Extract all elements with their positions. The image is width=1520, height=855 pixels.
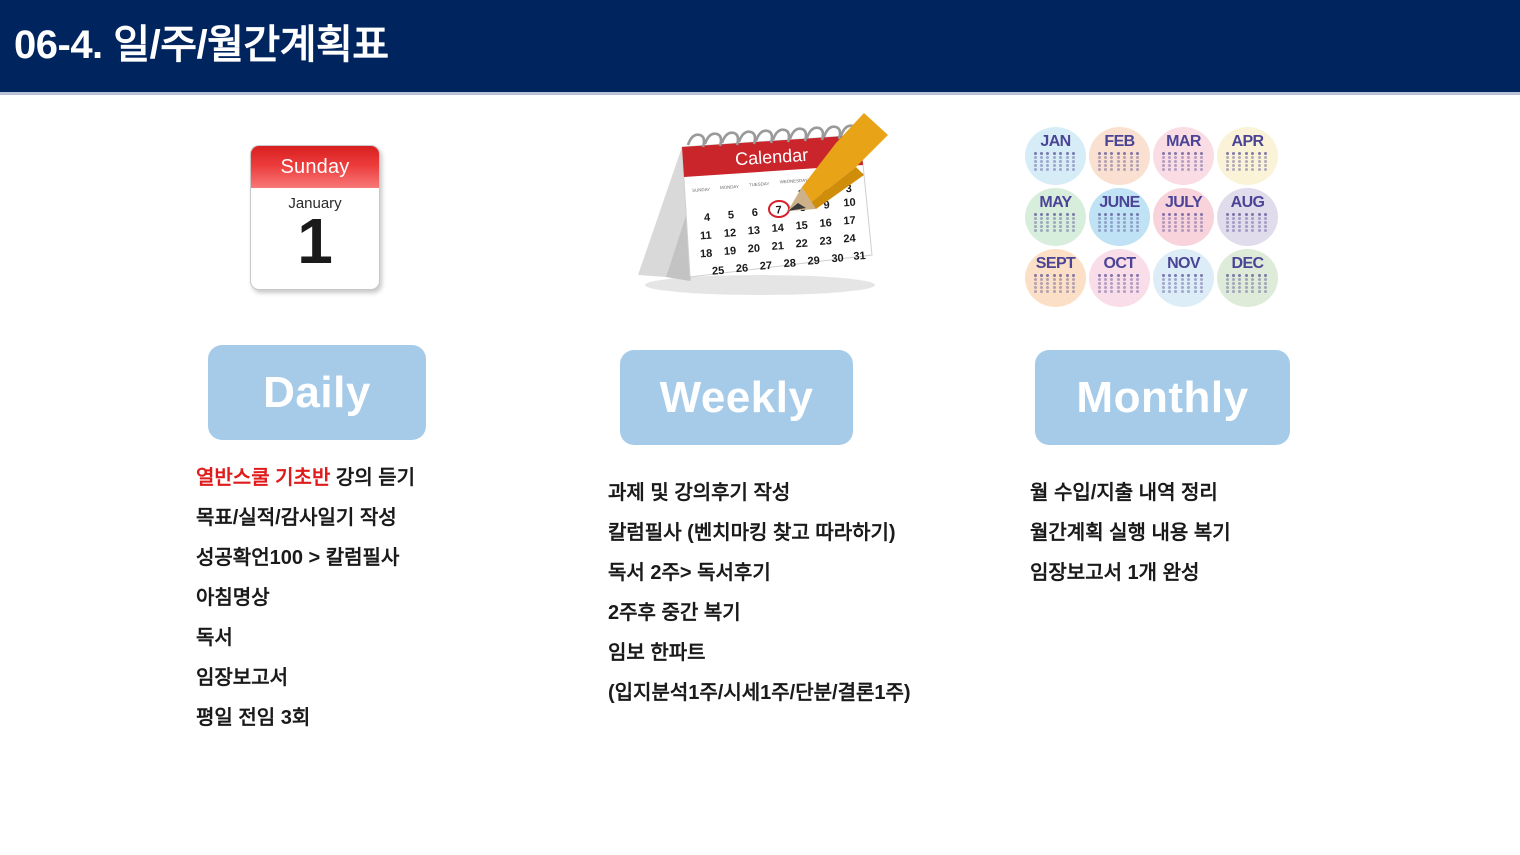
daily-icon-area: Sunday January 1: [140, 95, 560, 315]
svg-text:19: 19: [724, 245, 737, 258]
svg-text:12: 12: [724, 227, 737, 240]
list-item: 독서: [196, 618, 415, 658]
mini-calendar-grid: [1034, 274, 1078, 293]
desk-calendar-svg: Calendar: [620, 105, 920, 305]
pill-weekly[interactable]: Weekly: [620, 350, 853, 445]
svg-text:28: 28: [783, 257, 796, 270]
pill-monthly[interactable]: Monthly: [1035, 350, 1290, 445]
svg-text:14: 14: [771, 222, 785, 235]
month-chip: SEPT: [1025, 249, 1086, 307]
month-circles-icon: JANFEBMARAPRMAYJUNEJULYAUGSEPTOCTNOVDEC: [1025, 127, 1275, 307]
day-calendar-day: 1: [251, 210, 379, 272]
pill-monthly-label: Monthly: [1076, 373, 1248, 423]
mini-calendar-grid: [1098, 213, 1142, 232]
svg-text:13: 13: [747, 225, 760, 238]
svg-text:30: 30: [831, 252, 844, 265]
day-calendar-weekday: Sunday: [251, 146, 379, 188]
list-item: 임장보고서 1개 완성: [1030, 553, 1231, 593]
month-chip: JAN: [1025, 127, 1086, 185]
month-chip-label: OCT: [1104, 256, 1136, 272]
svg-text:22: 22: [795, 238, 808, 251]
svg-text:21: 21: [771, 240, 784, 253]
svg-text:15: 15: [795, 220, 808, 233]
month-chip: NOV: [1153, 249, 1214, 307]
list-item: 2주후 중간 복기: [608, 593, 911, 633]
task-list-weekly: 과제 및 강의후기 작성 칼럼필사 (벤치마킹 찾고 따라하기) 독서 2주> …: [608, 473, 911, 713]
svg-text:27: 27: [759, 260, 772, 273]
column-daily: Sunday January 1 Daily 열반스쿨 기초반 강의 듣기 목표…: [140, 95, 560, 855]
task-list-daily: 열반스쿨 기초반 강의 듣기 목표/실적/감사일기 작성 성공확언100 > 칼…: [196, 458, 415, 738]
pill-daily-label: Daily: [263, 368, 371, 418]
monthly-icon-area: JANFEBMARAPRMAYJUNEJULYAUGSEPTOCTNOVDEC: [980, 95, 1400, 315]
svg-text:29: 29: [807, 255, 820, 268]
month-chip: JULY: [1153, 188, 1214, 246]
svg-text:6: 6: [751, 207, 758, 219]
mini-calendar-grid: [1098, 274, 1142, 293]
list-item: 월 수입/지출 내역 정리: [1030, 473, 1231, 513]
mini-calendar-grid: [1034, 152, 1078, 171]
month-chip-label: JULY: [1165, 195, 1202, 211]
mini-calendar-grid: [1162, 213, 1206, 232]
columns-container: Sunday January 1 Daily 열반스쿨 기초반 강의 듣기 목표…: [0, 95, 1520, 855]
list-item: 임보 한파트: [608, 633, 911, 673]
day-calendar-icon: Sunday January 1: [250, 145, 380, 290]
svg-text:18: 18: [700, 248, 713, 261]
svg-text:24: 24: [843, 233, 857, 246]
month-chip: OCT: [1089, 249, 1150, 307]
mini-calendar-grid: [1226, 152, 1270, 171]
task-list-monthly: 월 수입/지출 내역 정리 월간계획 실행 내용 복기 임장보고서 1개 완성: [1030, 473, 1231, 593]
svg-text:25: 25: [712, 265, 725, 278]
month-chip-label: JUNE: [1099, 195, 1139, 211]
slide-root: 06-4. 일/주/월간계획표 Sunday January 1 Daily 열…: [0, 0, 1520, 855]
mini-calendar-grid: [1162, 274, 1206, 293]
mini-calendar-grid: [1162, 152, 1206, 171]
svg-text:31: 31: [853, 250, 866, 263]
month-chip-label: FEB: [1104, 134, 1134, 150]
weekly-icon-area: Calendar: [560, 95, 980, 315]
pill-daily[interactable]: Daily: [208, 345, 426, 440]
svg-text:16: 16: [819, 217, 832, 230]
mini-calendar-grid: [1226, 274, 1270, 293]
svg-text:7: 7: [775, 204, 782, 216]
mini-calendar-grid: [1034, 213, 1078, 232]
month-chip: AUG: [1217, 188, 1278, 246]
month-chip: APR: [1217, 127, 1278, 185]
svg-text:11: 11: [700, 230, 712, 243]
list-item: 열반스쿨 기초반 강의 듣기: [196, 458, 415, 498]
list-item: 과제 및 강의후기 작성: [608, 473, 911, 513]
column-weekly: Calendar: [560, 95, 980, 855]
desk-calendar-icon: Calendar: [620, 105, 920, 305]
month-chip: FEB: [1089, 127, 1150, 185]
svg-text:10: 10: [843, 197, 856, 210]
svg-text:23: 23: [819, 235, 832, 248]
list-item: 성공확언100 > 칼럼필사: [196, 538, 415, 578]
column-monthly: JANFEBMARAPRMAYJUNEJULYAUGSEPTOCTNOVDEC …: [980, 95, 1400, 855]
page-title: 06-4. 일/주/월간계획표: [14, 15, 389, 75]
svg-text:20: 20: [747, 243, 760, 256]
month-chip-label: SEPT: [1036, 256, 1075, 272]
svg-text:26: 26: [736, 262, 749, 275]
month-chip: DEC: [1217, 249, 1278, 307]
month-chip: MAY: [1025, 188, 1086, 246]
svg-text:5: 5: [728, 209, 735, 221]
list-item: 목표/실적/감사일기 작성: [196, 498, 415, 538]
task-text: 강의 듣기: [330, 467, 415, 489]
list-item: 아침명상: [196, 578, 415, 618]
task-highlight: 열반스쿨 기초반: [196, 467, 330, 489]
month-chip-label: JAN: [1040, 134, 1070, 150]
month-chip-label: MAR: [1166, 134, 1201, 150]
pill-weekly-label: Weekly: [660, 373, 814, 423]
month-chip-label: AUG: [1231, 195, 1265, 211]
month-chip-label: APR: [1232, 134, 1264, 150]
month-chip: JUNE: [1089, 188, 1150, 246]
month-chip-label: NOV: [1167, 256, 1200, 272]
mini-calendar-grid: [1226, 213, 1270, 232]
list-item: 독서 2주> 독서후기: [608, 553, 911, 593]
mini-calendar-grid: [1098, 152, 1142, 171]
list-item: (입지분석1주/시세1주/단분/결론1주): [608, 673, 911, 713]
list-item: 월간계획 실행 내용 복기: [1030, 513, 1231, 553]
list-item: 평일 전임 3회: [196, 698, 415, 738]
list-item: 임장보고서: [196, 658, 415, 698]
list-item: 칼럼필사 (벤치마킹 찾고 따라하기): [608, 513, 911, 553]
month-chip: MAR: [1153, 127, 1214, 185]
month-chip-label: MAY: [1039, 195, 1071, 211]
svg-text:17: 17: [843, 215, 856, 228]
month-chip-label: DEC: [1232, 256, 1264, 272]
